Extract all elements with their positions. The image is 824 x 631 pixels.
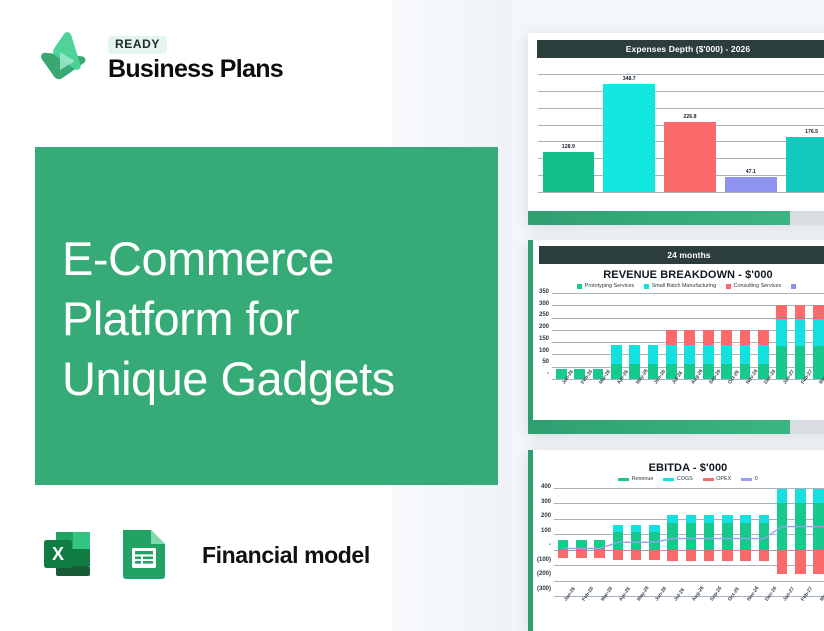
bar-value-label: 47.1 <box>746 169 756 175</box>
trend-line <box>554 488 824 596</box>
x-tick: Aug-26 <box>682 599 700 621</box>
x-tick: Sep-26 <box>700 599 718 621</box>
gridline <box>552 293 824 294</box>
bar-value-label: 348.7 <box>623 76 636 82</box>
svg-text:X: X <box>52 544 64 564</box>
y-tick-label: 150 <box>528 336 549 342</box>
y-tick-label: 300 <box>528 499 551 505</box>
x-tick: Mar-27 <box>810 599 824 621</box>
y-tick-label: 50 <box>528 359 549 365</box>
x-tick: Sep-26 <box>699 382 717 404</box>
x-tick: Nov-26 <box>737 599 755 621</box>
x-tick: Jul-26 <box>662 382 680 404</box>
bar[interactable]: 348.7 <box>603 84 655 192</box>
poster-canvas: READY Business Plans E-Commerce Platform… <box>0 0 824 631</box>
stack-segment <box>721 330 732 345</box>
stack-segment <box>703 330 714 345</box>
y-axis-ebitda: 400300200100-(100)(200)(300) <box>528 484 551 592</box>
y-tick-label: 250 <box>528 312 549 318</box>
stack-segment <box>666 330 677 345</box>
y-tick-label: 100 <box>528 348 549 354</box>
stack-segment <box>740 345 751 364</box>
x-tick: Apr-26 <box>607 382 625 404</box>
legend-item[interactable] <box>791 284 799 289</box>
stack-segment <box>776 346 787 379</box>
legend-swatch <box>618 478 629 481</box>
stack-segment <box>648 345 659 364</box>
x-tick: Feb-26 <box>572 599 590 621</box>
plot-revenue <box>552 293 824 379</box>
x-tick: Jul-26 <box>664 599 682 621</box>
y-tick-label: - <box>528 371 549 377</box>
x-tick: Apr-26 <box>609 599 627 621</box>
plot-ebitda <box>554 488 824 596</box>
gridline <box>538 192 824 193</box>
legend-swatch <box>644 284 649 289</box>
stack-segment <box>758 345 769 364</box>
y-tick-label: 350 <box>528 289 549 295</box>
stack-segment <box>776 305 787 319</box>
y-tick-label: (100) <box>528 557 551 563</box>
stack-segment <box>740 330 751 345</box>
play-triangle-logo-icon <box>30 28 94 92</box>
stacked-bar[interactable] <box>721 330 732 379</box>
page-title: E-Commerce Platform for Unique Gadgets <box>62 229 395 409</box>
financial-model-label: Financial model <box>202 542 370 569</box>
stack-segment <box>629 345 640 364</box>
x-tick: Mar-26 <box>589 382 607 404</box>
x-tick: Jun-26 <box>644 382 662 404</box>
stack-segment <box>611 345 622 364</box>
x-tick: Jun-26 <box>645 599 663 621</box>
stacked-bar[interactable] <box>813 305 824 379</box>
stacked-bar[interactable] <box>684 330 695 379</box>
x-tick: Jan-27 <box>773 382 791 404</box>
stack-segment <box>684 330 695 345</box>
stacked-bar[interactable] <box>629 345 640 379</box>
stack-segment <box>795 305 806 319</box>
stack-segment <box>795 346 806 379</box>
card-footer-accent-tail <box>790 420 824 434</box>
stacked-bar[interactable] <box>776 305 787 379</box>
y-tick-label: 200 <box>528 324 549 330</box>
google-sheets-icon <box>115 522 173 589</box>
y-tick-label: 200 <box>528 513 551 519</box>
stack-segment <box>813 319 824 347</box>
card-footer-accent <box>528 420 790 434</box>
x-tick: Feb-27 <box>791 382 809 404</box>
x-tick: Nov-26 <box>736 382 754 404</box>
bar[interactable]: 128.9 <box>543 152 595 192</box>
stack-segment <box>795 319 806 347</box>
chart-title-revenue: REVENUE BREAKDOWN - $'000 <box>528 269 824 281</box>
legend-swatch <box>577 284 582 289</box>
ready-badge: READY <box>108 36 167 54</box>
stacked-bar[interactable] <box>648 345 659 379</box>
x-tick: Mar-27 <box>809 382 824 404</box>
y-tick-label: - <box>528 542 551 548</box>
stack-segment <box>776 319 787 347</box>
y-tick-label: 300 <box>528 301 549 307</box>
x-tick: Mar-26 <box>591 599 609 621</box>
legend-swatch <box>741 478 752 481</box>
y-tick-label: (200) <box>528 571 551 577</box>
card-footer-accent-tail <box>790 211 824 225</box>
stack-segment <box>666 345 677 364</box>
chart-title-expenses: Expenses Depth ($'000) - 2026 <box>537 40 824 58</box>
x-tick: Feb-26 <box>570 382 588 404</box>
brand-logo[interactable]: READY Business Plans <box>30 28 283 92</box>
x-tick: Jan-26 <box>554 599 572 621</box>
chart-subheader-revenue: 24 months <box>539 246 824 264</box>
bar[interactable]: 176.5 <box>786 137 824 192</box>
stack-segment <box>684 345 695 364</box>
chart-card-revenue[interactable]: 24 months REVENUE BREAKDOWN - $'000 Prot… <box>528 240 824 434</box>
stack-segment <box>758 330 769 345</box>
hero-green-block: E-Commerce Platform for Unique Gadgets <box>35 147 498 485</box>
stack-segment <box>703 345 714 364</box>
x-tick: Feb-27 <box>791 599 809 621</box>
y-axis-revenue: 35030025020015010050- <box>528 289 549 377</box>
bar[interactable]: 226.8 <box>664 122 716 192</box>
stacked-bar[interactable] <box>795 305 806 379</box>
stack-segment <box>721 345 732 364</box>
stacked-bar[interactable] <box>666 330 677 379</box>
y-tick-label: (300) <box>528 586 551 592</box>
x-tick: May-26 <box>627 599 645 621</box>
x-tick: Jan-26 <box>552 382 570 404</box>
microsoft-excel-icon: X <box>36 522 98 589</box>
x-axis-revenue: Jan-26Feb-26Mar-26Apr-26May-26Jun-26Jul-… <box>552 382 824 404</box>
legend-swatch <box>791 284 796 289</box>
stack-segment <box>813 305 824 319</box>
chart-card-ebitda[interactable]: EBITDA - $'000 RevenueCOGSOPEX0 40030020… <box>528 450 824 631</box>
bar[interactable]: 47.1 <box>725 177 777 192</box>
y-tick-label: 400 <box>528 484 551 490</box>
y-tick-label: 100 <box>528 528 551 534</box>
brand-name: Business Plans <box>108 56 283 84</box>
x-axis-ebitda: Jan-26Feb-26Mar-26Apr-26May-26Jun-26Jul-… <box>554 599 824 621</box>
x-tick: Jan-27 <box>773 599 791 621</box>
legend-swatch <box>726 284 731 289</box>
format-row: X Financial model <box>36 522 370 589</box>
chart-title-ebitda: EBITDA - $'000 <box>528 462 824 474</box>
chart-card-expenses[interactable]: Expenses Depth ($'000) - 2026 128.9348.7… <box>528 33 824 225</box>
x-tick: Dec-26 <box>754 382 772 404</box>
x-tick: Oct-26 <box>718 599 736 621</box>
brand-wordmark: READY Business Plans <box>108 36 283 84</box>
bar-value-label: 226.8 <box>683 114 696 120</box>
legend-swatch <box>703 478 714 481</box>
bar-value-label: 128.9 <box>562 144 575 150</box>
card-footer-accent <box>528 211 790 225</box>
x-tick: Aug-26 <box>681 382 699 404</box>
legend-swatch <box>663 478 674 481</box>
plot-expenses: 128.9348.7226.847.1176.5 <box>538 74 824 192</box>
bar-group: 128.9348.7226.847.1176.5 <box>538 74 824 192</box>
bar-value-label: 176.5 <box>805 129 818 135</box>
x-tick: Oct-26 <box>717 382 735 404</box>
x-tick: Dec-26 <box>755 599 773 621</box>
x-tick: May-26 <box>626 382 644 404</box>
